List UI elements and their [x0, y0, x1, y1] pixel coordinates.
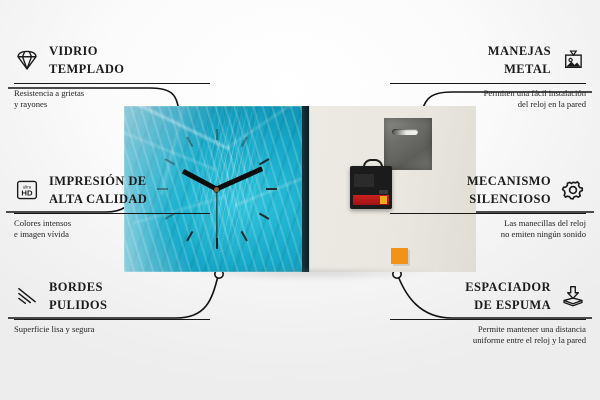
- ultra-hd-badge-icon: ultra HD: [14, 178, 40, 202]
- gear-icon: [560, 178, 586, 202]
- feature-title-line1: BORDES: [49, 280, 103, 294]
- feature-title-line1: MANEJAS: [488, 44, 551, 58]
- feature-desc-line2: no emiten ningún sonido: [501, 229, 586, 239]
- feature-divider: [14, 319, 210, 320]
- feature-header: ESPACIADOR DE ESPUMA: [390, 278, 586, 314]
- feature-header: ultra HD IMPRESIÓN DE ALTA CALIDAD: [14, 172, 210, 208]
- feature-desc-line1: Permiten una fácil instalación: [484, 88, 586, 98]
- clock-pivot: [214, 187, 219, 192]
- battery-label: [353, 195, 389, 205]
- feature-title-line1: IMPRESIÓN DE: [49, 174, 147, 188]
- feature-description: Permiten una fácil instalación del reloj…: [390, 88, 586, 109]
- feature-title-line2: TEMPLADO: [49, 62, 124, 76]
- hanger-keyhole-slot: [392, 129, 418, 135]
- polished-edges-icon: [14, 284, 40, 308]
- feature-description: Permite mantener una distancia uniforme …: [390, 324, 586, 345]
- mechanism-housing-detail: [379, 190, 388, 194]
- feature-manejas-metal: MANEJAS METAL Permiten una fácil instala…: [390, 42, 586, 109]
- feature-title: VIDRIO TEMPLADO: [49, 42, 124, 78]
- feature-desc-line1: Resistencia a grietas: [14, 88, 84, 98]
- feature-description: Colores intensos e imagen vívida: [14, 218, 210, 239]
- feature-title: BORDES PULIDOS: [49, 278, 107, 314]
- feature-bordes-pulidos: BORDES PULIDOS Superficie lisa y segura: [14, 278, 210, 335]
- feature-divider: [390, 319, 586, 320]
- feature-divider: [390, 83, 586, 84]
- clock-tick: [216, 129, 218, 189]
- feature-espaciador-espuma: ESPACIADOR DE ESPUMA Permite mantener un…: [390, 278, 586, 345]
- feature-description: Resistencia a grietas y rayones: [14, 88, 210, 109]
- feature-desc-line2: uniforme entre el reloj y la pared: [473, 335, 586, 345]
- clock-tick: [217, 188, 277, 190]
- panel-edge: [302, 106, 309, 272]
- feature-title-line1: VIDRIO: [49, 44, 98, 58]
- feature-title: ESPACIADOR DE ESPUMA: [465, 278, 551, 314]
- feature-header: VIDRIO TEMPLADO: [14, 42, 210, 78]
- svg-text:HD: HD: [21, 189, 33, 198]
- feature-desc-line2: del reloj en la pared: [518, 99, 586, 109]
- feature-divider: [390, 213, 586, 214]
- feature-title-line2: DE ESPUMA: [474, 298, 551, 312]
- feature-desc-line1: Permite mantener una distancia: [478, 324, 586, 334]
- feature-title: MECANISMO SILENCIOSO: [467, 172, 551, 208]
- wall-hanger-icon: [560, 48, 586, 72]
- feature-desc-line2: y rayones: [14, 99, 47, 109]
- feature-vidrio-templado: VIDRIO TEMPLADO Resistencia a grietas y …: [14, 42, 210, 109]
- feature-mecanismo-silencioso: MECANISMO SILENCIOSO Las manecillas del …: [390, 172, 586, 239]
- quartz-mechanism: [350, 166, 392, 209]
- feature-title: MANEJAS METAL: [488, 42, 551, 78]
- feature-desc-line1: Las manecillas del reloj: [504, 218, 586, 228]
- feature-title: IMPRESIÓN DE ALTA CALIDAD: [49, 172, 147, 208]
- feature-desc-line1: Superficie lisa y segura: [14, 324, 94, 334]
- feature-description: Las manecillas del reloj no emiten ningú…: [390, 218, 586, 239]
- feature-description: Superficie lisa y segura: [14, 324, 210, 335]
- metal-hanger-plate: [384, 118, 432, 170]
- mechanism-housing-detail: [354, 174, 374, 187]
- infographic-stage: VIDRIO TEMPLADO Resistencia a grietas y …: [0, 0, 600, 400]
- feature-divider: [14, 213, 210, 214]
- foam-spacer: [391, 248, 408, 264]
- feature-divider: [14, 83, 210, 84]
- feature-desc-line2: e imagen vívida: [14, 229, 69, 239]
- feature-title-line2: SILENCIOSO: [469, 192, 551, 206]
- feature-impresion-alta-calidad: ultra HD IMPRESIÓN DE ALTA CALIDAD Color…: [14, 172, 210, 239]
- feature-header: MECANISMO SILENCIOSO: [390, 172, 586, 208]
- diamond-icon: [14, 48, 40, 72]
- foam-spacer-icon: [560, 284, 586, 308]
- feature-desc-line1: Colores intensos: [14, 218, 71, 228]
- feature-header: MANEJAS METAL: [390, 42, 586, 78]
- feature-header: BORDES PULIDOS: [14, 278, 210, 314]
- mechanism-hanging-loop: [363, 159, 383, 170]
- feature-title-line1: MECANISMO: [467, 174, 551, 188]
- feature-title-line2: METAL: [504, 62, 551, 76]
- feature-title-line2: PULIDOS: [49, 298, 107, 312]
- feature-title-line2: ALTA CALIDAD: [49, 192, 147, 206]
- feature-title-line1: ESPACIADOR: [465, 280, 551, 294]
- clock-second-hand: [216, 189, 217, 247]
